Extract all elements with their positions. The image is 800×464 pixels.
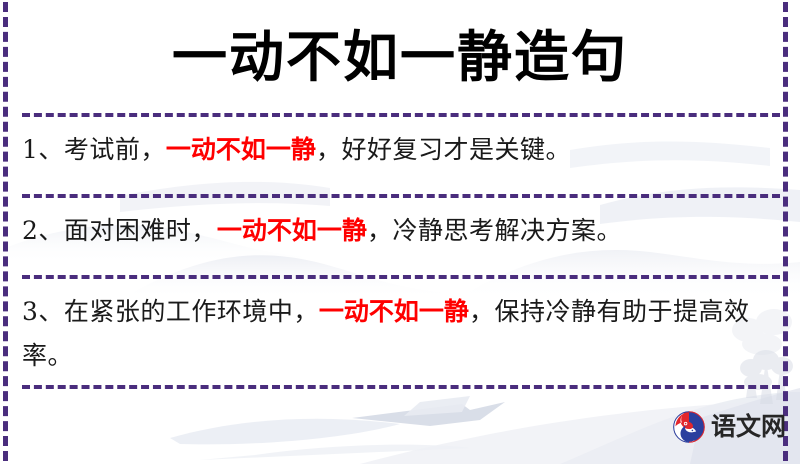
sentence-after-text: ，好好复习才是关键。	[316, 135, 571, 164]
sentence-after-text: ，冷静思考解决方案。	[367, 216, 622, 245]
divider-rule-1	[22, 113, 780, 117]
divider-rule-3	[22, 275, 780, 279]
idiom-highlight: 一动不如一静	[166, 135, 316, 164]
sentence-index: 2、	[22, 216, 64, 245]
sentence-before-text: 在紧张的工作环境中，	[64, 297, 319, 326]
sentence-index: 3、	[22, 297, 64, 326]
list-item: 3、在紧张的工作环境中，一动不如一静，保持冷静有助于提高效率。	[22, 290, 774, 378]
taiji-fish-icon	[672, 410, 706, 444]
divider-rule-4	[22, 385, 780, 389]
sentence-before-text: 考试前，	[64, 135, 166, 164]
logo-text: 语文网	[711, 412, 786, 442]
sentence-before-text: 面对困难时，	[64, 216, 217, 245]
idiom-highlight: 一动不如一静	[319, 297, 469, 326]
sentence-index: 1、	[22, 135, 64, 164]
list-item: 1、考试前，一动不如一静，好好复习才是关键。	[22, 128, 774, 172]
divider-rule-2	[22, 194, 780, 198]
worksheet-page: 一动不如一静造句 1、考试前，一动不如一静，好好复习才是关键。 2、面对困难时，…	[0, 0, 800, 464]
idiom-highlight: 一动不如一静	[217, 216, 367, 245]
list-item: 2、面对困难时，一动不如一静，冷静思考解决方案。	[22, 209, 774, 253]
site-logo[interactable]: 语文网	[672, 410, 786, 444]
page-title: 一动不如一静造句	[0, 18, 800, 96]
